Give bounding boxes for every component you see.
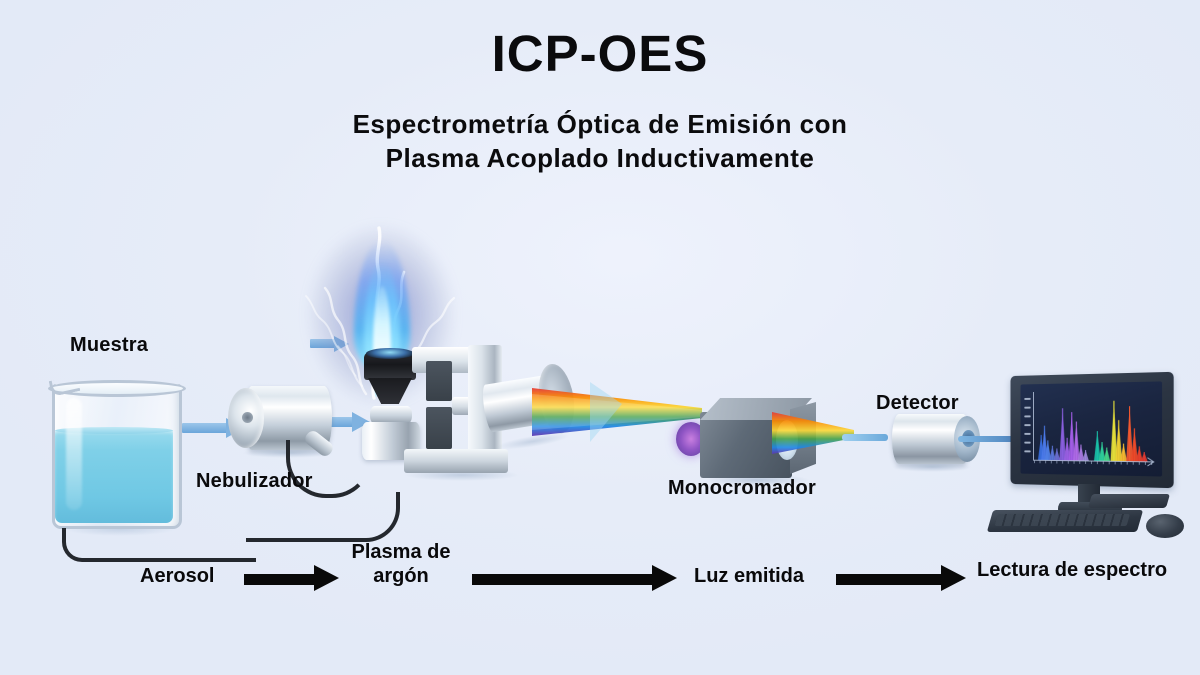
arrow-shaft (244, 574, 316, 585)
monitor-bezel (1010, 372, 1173, 488)
flow-step-luz-emitida: Luz emitida (694, 564, 804, 588)
arrow-head (314, 565, 339, 591)
stand-base-arm (404, 449, 508, 473)
spectrum-y-axis-labels (1024, 398, 1030, 452)
spectrum-peaks (1038, 400, 1148, 461)
arrow-shaft (836, 574, 943, 585)
arrow-head (941, 565, 966, 591)
page-title: ICP-OES (0, 26, 1200, 82)
keyboard-icon[interactable] (987, 510, 1143, 532)
arrow-shaft (182, 423, 228, 433)
nebulizer-tube-middle (246, 492, 400, 542)
stand-panel-lower (426, 407, 452, 449)
label-muestra: Muestra (70, 334, 148, 357)
arrow-shaft (472, 574, 654, 585)
mouse-icon[interactable] (1146, 514, 1184, 538)
flow-arrow-2-icon (472, 565, 677, 591)
label-nebulizador: Nebulizador (196, 470, 313, 493)
dispersed-spectrum-beam-icon (772, 404, 858, 462)
keyboard-secondary[interactable] (1088, 494, 1170, 508)
monitor-screen (1021, 381, 1163, 476)
flow-step-lectura-espectro: Lectura de espectro (977, 558, 1167, 582)
label-detector: Detector (876, 392, 959, 415)
keyboard-keys (995, 514, 1130, 526)
arrow-head (652, 565, 677, 591)
flow-arrow-3-icon (836, 565, 966, 591)
computer-monitor-icon (1002, 374, 1190, 534)
flow-step-aerosol: Aerosol (140, 564, 214, 588)
diagram-canvas: ICP-OES Espectrometría Óptica de Emisión… (0, 0, 1200, 675)
nebulizer-tube-lower (62, 528, 256, 562)
spectrum-chart (1021, 381, 1163, 476)
beaker-highlight (66, 398, 82, 510)
flow-arrow-1-icon (244, 565, 339, 591)
subtitle-line-1: Espectrometría Óptica de Emisión con (0, 108, 1200, 140)
flow-step-plasma-argon: Plasma de argón (341, 540, 461, 588)
nebulizer-inlet (242, 412, 253, 423)
stand-panel-upper (426, 361, 452, 401)
subtitle-line-2: Plasma Acoplado Inductivamente (0, 142, 1200, 174)
beam-to-detector (842, 434, 888, 441)
beaker-icon (48, 372, 180, 530)
label-monocromador: Monocromador (668, 477, 816, 500)
